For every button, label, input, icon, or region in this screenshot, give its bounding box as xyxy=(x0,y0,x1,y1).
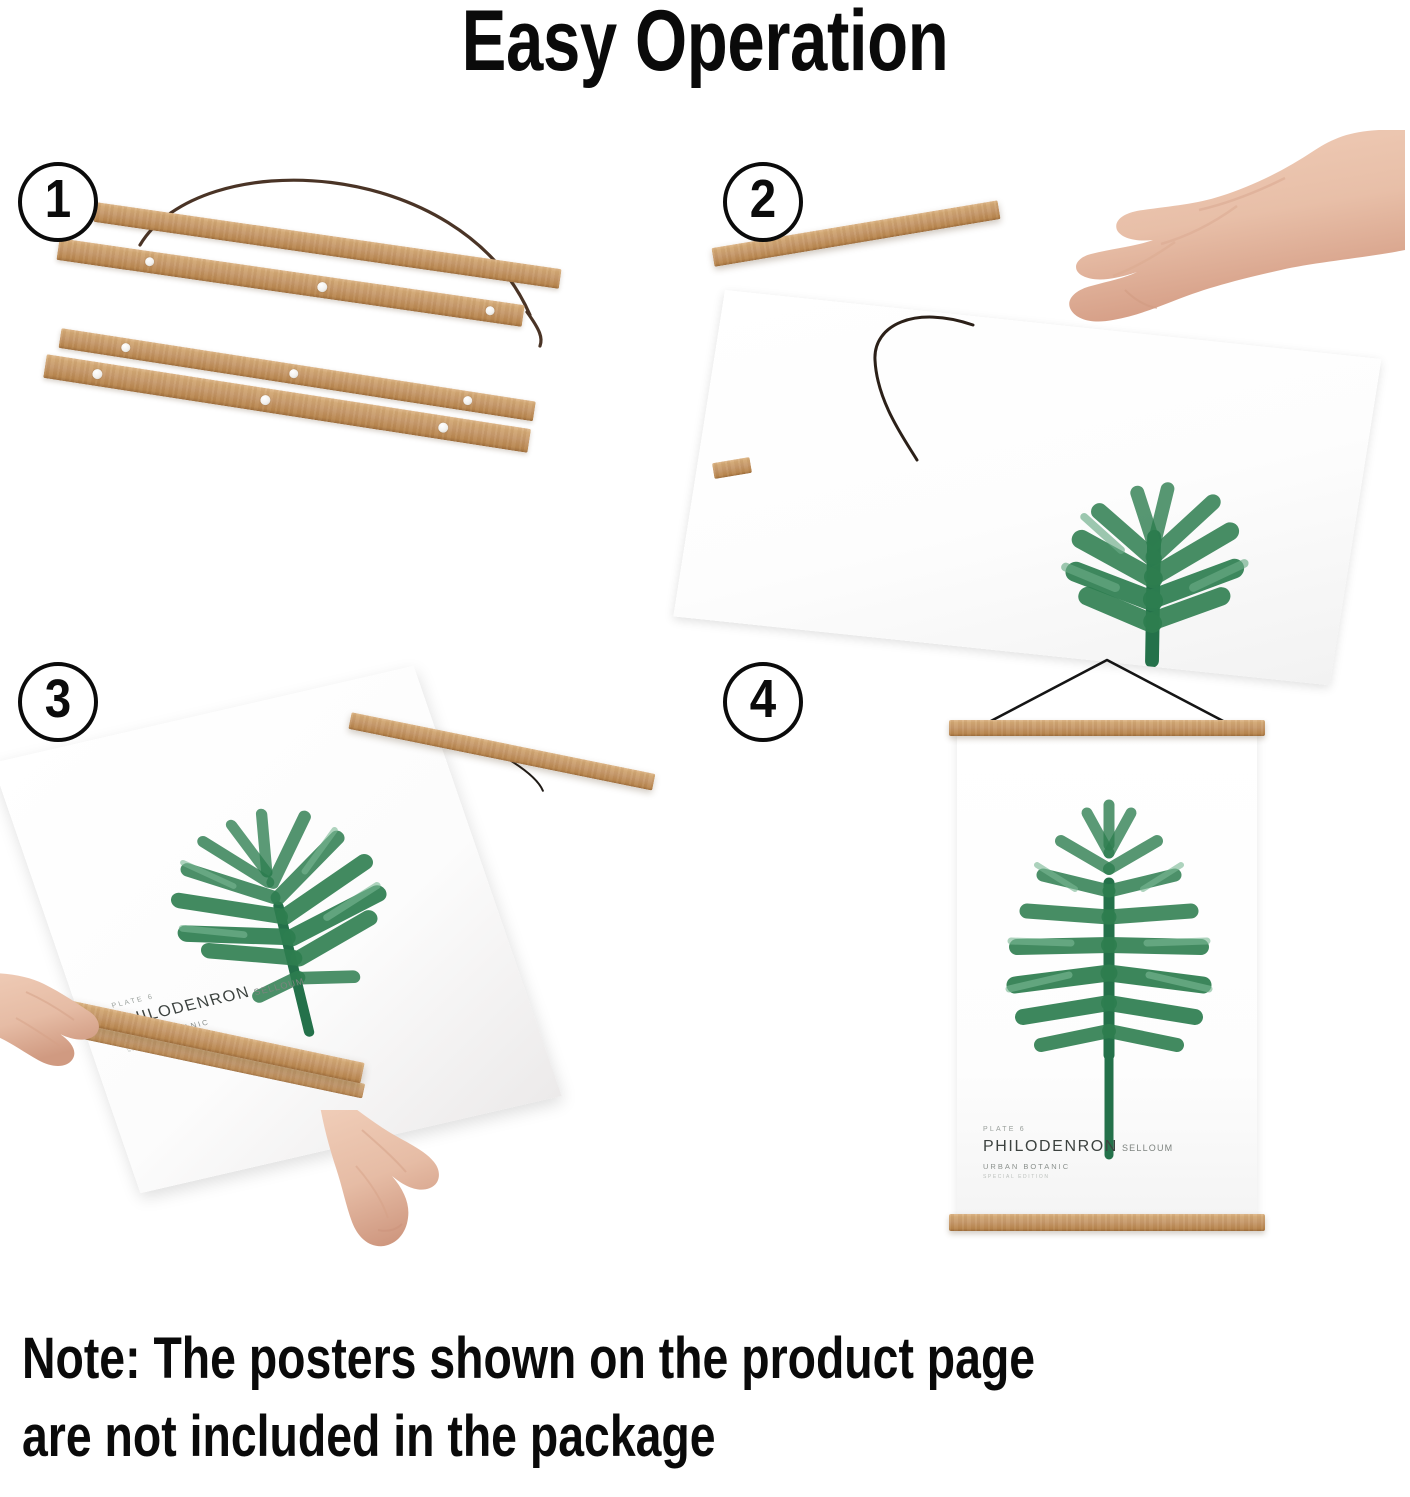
page-title: Easy Operation xyxy=(155,0,1255,91)
magnet-dot xyxy=(317,281,328,292)
poster-plate-label: PLATE 6 xyxy=(983,1126,1173,1133)
magnet-dot xyxy=(145,257,155,267)
note-text: Note: The posters shown on the product p… xyxy=(22,1320,1126,1477)
step-number-3: 3 xyxy=(45,672,71,726)
hanging-poster-assembly: PLATE 6 PHILODENRONSELLOUM URBAN BOTANIC… xyxy=(927,652,1287,1252)
hand-right-step3 xyxy=(300,1110,540,1300)
step-number-badge-1: 1 xyxy=(18,162,98,242)
frame-rail-top-step4 xyxy=(949,720,1265,736)
step-number-1: 1 xyxy=(45,172,71,226)
step-panel-1: 1 xyxy=(0,140,705,640)
poster-sheet-step4: PLATE 6 PHILODENRONSELLOUM URBAN BOTANIC… xyxy=(957,730,1257,1220)
step-number-2: 2 xyxy=(750,172,776,226)
hand-holding-rail-step2 xyxy=(985,130,1405,380)
poster-sub-label: SPECIAL EDITION xyxy=(983,1174,1173,1180)
poster-caption-step4: PLATE 6 PHILODENRONSELLOUM URBAN BOTANIC… xyxy=(983,1126,1173,1180)
frame-rail-bottom-step4 xyxy=(949,1214,1265,1231)
magnet-dot xyxy=(289,369,299,379)
step-number-badge-4: 4 xyxy=(723,662,803,742)
step-number-badge-2: 2 xyxy=(723,162,803,242)
note-line-2: are not included in the package xyxy=(22,1398,1126,1476)
step-panel-4: 4 xyxy=(705,640,1410,1290)
magnet-dot xyxy=(438,422,449,433)
step-panel-3: 3 xyxy=(0,640,705,1290)
magnet-dot xyxy=(92,368,103,379)
magnet-dot xyxy=(485,306,495,316)
magnet-dot xyxy=(121,343,131,353)
poster-name-label: PHILODENRONSELLOUM xyxy=(983,1138,1173,1156)
magnet-dot xyxy=(260,394,271,405)
note-line-1: Note: The posters shown on the product p… xyxy=(22,1320,1126,1398)
magnet-dot xyxy=(463,395,473,405)
infographic-page: Easy Operation 1 2 xyxy=(0,0,1410,1497)
step-number-4: 4 xyxy=(750,672,776,726)
step-panel-2: 2 xyxy=(705,140,1410,640)
step-number-badge-3: 3 xyxy=(18,662,98,742)
hand-left-step3 xyxy=(0,940,166,1130)
poster-brand-label: URBAN BOTANIC xyxy=(983,1162,1173,1171)
